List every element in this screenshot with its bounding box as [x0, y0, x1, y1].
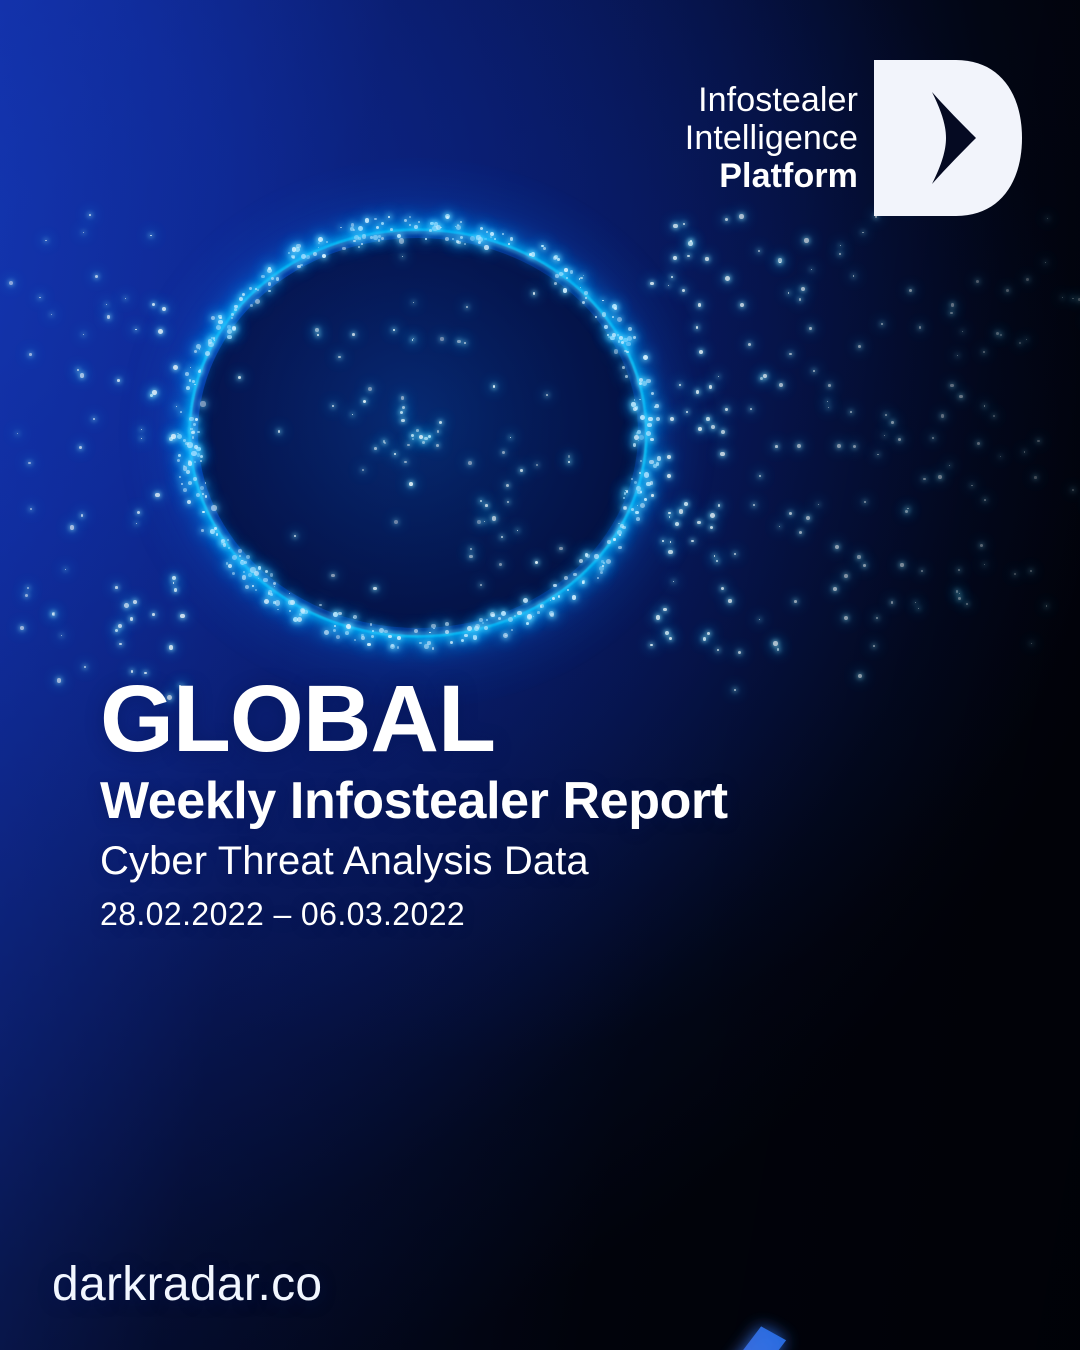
ambient-particle	[162, 307, 166, 311]
ambient-particle	[709, 385, 712, 388]
ambient-particle	[763, 374, 767, 378]
ambient-particle	[173, 365, 178, 370]
ambient-particle	[918, 608, 919, 609]
ambient-particle	[1045, 262, 1046, 263]
ambient-particle	[27, 587, 29, 589]
ambient-particle	[171, 434, 175, 438]
ambient-particle	[51, 314, 52, 315]
ambient-particle	[130, 617, 134, 621]
ambient-particle	[707, 632, 710, 635]
headline-block: GLOBAL Weekly Infostealer Report Cyber T…	[100, 672, 728, 932]
ambient-particle	[699, 350, 704, 355]
ambient-particle	[977, 442, 980, 445]
ambient-particle	[61, 635, 62, 636]
ambient-particle	[971, 485, 972, 486]
ambient-particle	[28, 462, 30, 464]
ambient-particle	[679, 509, 684, 514]
ambient-particle	[891, 601, 894, 604]
ambient-particle	[885, 414, 887, 416]
ambient-particle	[876, 617, 879, 620]
ambient-particle	[779, 383, 783, 387]
ambient-particle	[1024, 451, 1026, 453]
ambient-particle	[959, 395, 962, 398]
ambient-particle	[118, 624, 123, 629]
ambient-particle	[155, 493, 159, 497]
ambient-particle	[696, 326, 698, 328]
ambient-particle	[84, 666, 86, 668]
ambient-particle	[853, 445, 856, 448]
ambient-particle	[773, 641, 778, 646]
ambient-particle	[668, 285, 669, 286]
ambient-particle	[779, 262, 780, 263]
ambient-particle	[864, 501, 866, 503]
ambient-particle	[905, 510, 908, 513]
ambient-particle	[877, 454, 878, 455]
ambient-particle	[976, 280, 979, 283]
ambient-particle	[789, 353, 791, 355]
ambient-particle	[1006, 289, 1009, 292]
page-description: Cyber Threat Analysis Data	[100, 839, 728, 883]
ambient-particle	[919, 326, 922, 329]
ambient-particle	[804, 238, 808, 242]
ambient-particle	[921, 570, 923, 572]
ambient-particle	[671, 276, 673, 278]
ambient-particle	[759, 619, 761, 621]
ambient-particle	[809, 327, 812, 330]
ambient-particle	[950, 312, 952, 314]
ambient-particle	[141, 438, 142, 439]
ambient-particle	[710, 526, 713, 529]
ambient-particle	[107, 315, 111, 319]
ambient-particle	[1034, 476, 1037, 479]
ambient-particle	[52, 613, 54, 615]
ambient-particle	[958, 597, 961, 600]
ambient-particle	[25, 594, 28, 597]
ambient-particle	[835, 545, 839, 549]
ambient-particle	[703, 637, 706, 640]
ambient-particle	[688, 241, 693, 246]
ambient-particle	[698, 303, 701, 306]
ambient-particle	[80, 373, 84, 377]
ambient-particle	[20, 626, 24, 630]
ambient-particle	[1014, 573, 1016, 575]
ambient-particle	[950, 384, 953, 387]
ambient-particle	[45, 240, 47, 242]
ambient-particle	[152, 303, 155, 306]
ambient-particle	[1026, 278, 1029, 281]
ambient-particle	[1037, 440, 1040, 443]
ambient-particle	[711, 425, 715, 429]
ambient-particle	[117, 379, 120, 382]
ambient-particle	[718, 504, 720, 506]
ambient-particle	[909, 289, 912, 292]
ambient-particle	[721, 430, 725, 434]
ambient-particle	[1026, 339, 1027, 340]
ambient-particle	[1031, 643, 1032, 644]
ambient-particle	[720, 452, 725, 457]
ambient-particle	[1072, 489, 1074, 491]
ambient-particle	[862, 232, 863, 233]
ambient-particle	[1030, 570, 1033, 573]
ambient-particle	[837, 444, 841, 448]
ambient-particle	[150, 235, 152, 237]
ambient-particle	[718, 376, 719, 377]
ambient-particle	[898, 438, 901, 441]
ambient-particle	[152, 390, 157, 395]
ambient-particle	[740, 303, 744, 307]
ambient-particle	[77, 369, 79, 371]
ambient-particle	[180, 614, 184, 618]
ambient-particle	[684, 502, 688, 506]
chevron-band-top-highlight	[278, 1326, 786, 1350]
ambient-particle	[734, 689, 736, 691]
ambient-particle	[907, 508, 908, 509]
ambient-particle	[136, 523, 137, 524]
ambient-particle	[716, 560, 718, 562]
ambient-particle	[650, 282, 654, 286]
ambient-particle	[818, 504, 819, 505]
ambient-particle	[656, 615, 660, 619]
website-watermark[interactable]: darkradar.co	[52, 1257, 322, 1312]
ambient-particle	[717, 649, 719, 651]
ambient-particle	[706, 417, 710, 421]
ambient-particle	[176, 406, 177, 407]
ambient-particle	[900, 563, 903, 566]
ambient-particle	[828, 407, 829, 408]
ambient-particle	[799, 531, 802, 534]
ambient-particle	[690, 240, 692, 242]
ambient-particle	[827, 401, 828, 402]
ambient-particle	[753, 504, 755, 506]
ambient-particle	[938, 475, 942, 479]
ambient-particle	[662, 540, 663, 541]
ambient-particle	[833, 587, 837, 591]
ambient-particle	[106, 304, 107, 305]
ambient-particle	[9, 281, 13, 285]
ambient-particle	[811, 269, 812, 270]
ambient-particle	[682, 289, 685, 292]
ambient-particle	[135, 329, 136, 330]
ambient-particle	[172, 576, 176, 580]
brand-logo-line-2: Intelligence	[685, 119, 858, 157]
ambient-particle	[705, 257, 708, 260]
ambient-particle	[853, 275, 854, 276]
ambient-particle	[844, 574, 848, 578]
ambient-particle	[670, 417, 674, 421]
ambient-particle	[670, 541, 672, 543]
ambient-particle	[828, 384, 831, 387]
ambient-particle	[668, 550, 673, 555]
ambient-particle	[734, 553, 736, 555]
brand-logo-line-1: Infostealer	[685, 81, 858, 119]
ambient-particle	[806, 516, 810, 520]
ambient-particle	[1062, 297, 1063, 298]
ambient-particle	[115, 629, 118, 632]
ambient-particle	[1047, 218, 1048, 219]
ambient-particle	[124, 603, 129, 608]
ambient-particle	[725, 218, 729, 222]
ambient-particle	[714, 555, 716, 557]
ambient-particle	[839, 253, 840, 254]
ambient-particle	[93, 418, 95, 420]
ambient-particle	[891, 421, 894, 424]
ambient-particle	[663, 608, 666, 611]
ambient-particle	[683, 223, 685, 225]
ambient-particle	[650, 644, 653, 647]
ambient-particle	[884, 435, 885, 436]
ambient-particle	[651, 494, 653, 496]
ambient-particle	[669, 637, 672, 640]
ambient-particle	[777, 648, 780, 651]
ambient-particle	[788, 292, 790, 294]
ambient-particle	[858, 674, 862, 678]
ambient-particle	[686, 411, 688, 413]
ambient-particle	[760, 377, 763, 380]
ambient-particle	[725, 408, 727, 410]
brand-logo-line-3: Platform	[685, 157, 858, 195]
ambient-particle	[673, 224, 677, 228]
ambient-particle	[141, 429, 142, 430]
ambient-particle	[30, 508, 32, 510]
ambient-particle	[29, 353, 32, 356]
ambient-particle	[667, 455, 671, 459]
ambient-particle	[958, 569, 960, 571]
ambient-particle	[728, 599, 731, 602]
ambient-particle	[152, 613, 155, 616]
ambient-particle	[169, 645, 174, 650]
ambient-particle	[669, 516, 671, 518]
ambient-particle	[984, 564, 985, 565]
ambient-particle	[844, 616, 848, 620]
ambient-particle	[984, 499, 986, 501]
ambient-particle	[668, 512, 670, 514]
ambient-particle	[923, 478, 925, 480]
ambient-particle	[158, 329, 163, 334]
ambient-particle	[133, 600, 137, 604]
ambient-particle	[65, 569, 66, 570]
ambient-particle	[813, 370, 815, 372]
ambient-particle	[789, 512, 792, 515]
ambient-particle	[115, 586, 118, 589]
page-subtitle: Weekly Infostealer Report	[100, 773, 728, 829]
ambient-particle	[858, 345, 861, 348]
ambient-particle	[691, 540, 693, 542]
ambient-particle	[957, 355, 958, 356]
ambient-particle	[679, 384, 681, 386]
ambient-particle	[863, 564, 866, 567]
ambient-particle	[697, 521, 701, 525]
ambient-particle	[984, 405, 985, 406]
ambient-particle	[748, 343, 751, 346]
ambient-particle	[797, 444, 801, 448]
ambient-particle	[873, 645, 875, 647]
ambient-particle	[750, 408, 752, 410]
ambient-particle	[915, 602, 916, 603]
ambient-particle	[951, 303, 954, 306]
ambient-particle	[993, 415, 996, 418]
logo-mark-svg	[872, 58, 1024, 218]
ambient-particle	[932, 437, 934, 439]
ambient-particle	[667, 474, 671, 478]
ambient-particle	[801, 287, 805, 291]
ambient-particle	[959, 593, 960, 594]
poster-canvas: Infostealer Intelligence Platform GLOBAL…	[0, 0, 1080, 1350]
ambient-particle	[173, 582, 174, 583]
report-date-range: 28.02.2022 – 06.03.2022	[100, 897, 728, 932]
ambient-particle	[673, 256, 677, 260]
ambient-particle	[775, 445, 778, 448]
ambient-particle	[799, 298, 802, 301]
ambient-particle	[759, 475, 761, 477]
ambient-particle	[1000, 456, 1001, 457]
ambient-particle	[941, 414, 944, 417]
ambient-particle	[95, 275, 99, 279]
ambient-particle	[698, 427, 702, 431]
ambient-particle	[758, 250, 760, 252]
ambient-particle	[983, 351, 986, 354]
ambient-particle	[696, 390, 699, 393]
ambient-particle	[980, 544, 983, 547]
ambient-particle	[1072, 298, 1073, 299]
ambient-particle	[710, 513, 715, 518]
ambient-particle	[70, 525, 74, 529]
ambient-particle	[1019, 342, 1021, 344]
ambient-particle	[840, 245, 841, 246]
brand-logo-text: Infostealer Intelligence Platform	[685, 58, 858, 218]
ambient-particle	[675, 522, 679, 526]
ambient-particle	[857, 555, 861, 559]
ambient-particle	[738, 651, 741, 654]
ambient-particle	[1046, 605, 1048, 607]
ambient-particle	[794, 600, 797, 603]
ambient-particle	[79, 446, 83, 450]
ambient-particle	[779, 526, 780, 527]
brand-logo[interactable]: Infostealer Intelligence Platform	[685, 58, 1024, 218]
ambient-particle	[1000, 334, 1002, 336]
ambient-particle	[83, 232, 84, 233]
darkradar-d-arrow-icon	[872, 58, 1024, 218]
page-title: GLOBAL	[100, 672, 728, 767]
ambient-particle	[119, 643, 121, 645]
ambient-particle	[966, 603, 968, 605]
ambient-particle	[725, 276, 730, 281]
ambient-particle	[137, 511, 140, 514]
ambient-particle	[125, 298, 126, 299]
ambient-particle	[962, 331, 963, 332]
ambient-particle	[57, 678, 61, 682]
ambient-particle	[850, 411, 852, 413]
ambient-particle	[89, 214, 91, 216]
ambient-particle	[673, 581, 674, 582]
ambient-particle	[721, 587, 724, 590]
ambient-particle	[39, 297, 41, 299]
ambient-particle	[174, 588, 178, 592]
ambient-particle	[17, 433, 19, 435]
ambient-particle	[687, 255, 690, 258]
ambient-particle	[81, 514, 84, 517]
ambient-particle	[881, 323, 883, 325]
ambient-particle	[83, 334, 84, 335]
ambient-particle	[949, 465, 950, 466]
ambient-particle	[665, 631, 669, 635]
